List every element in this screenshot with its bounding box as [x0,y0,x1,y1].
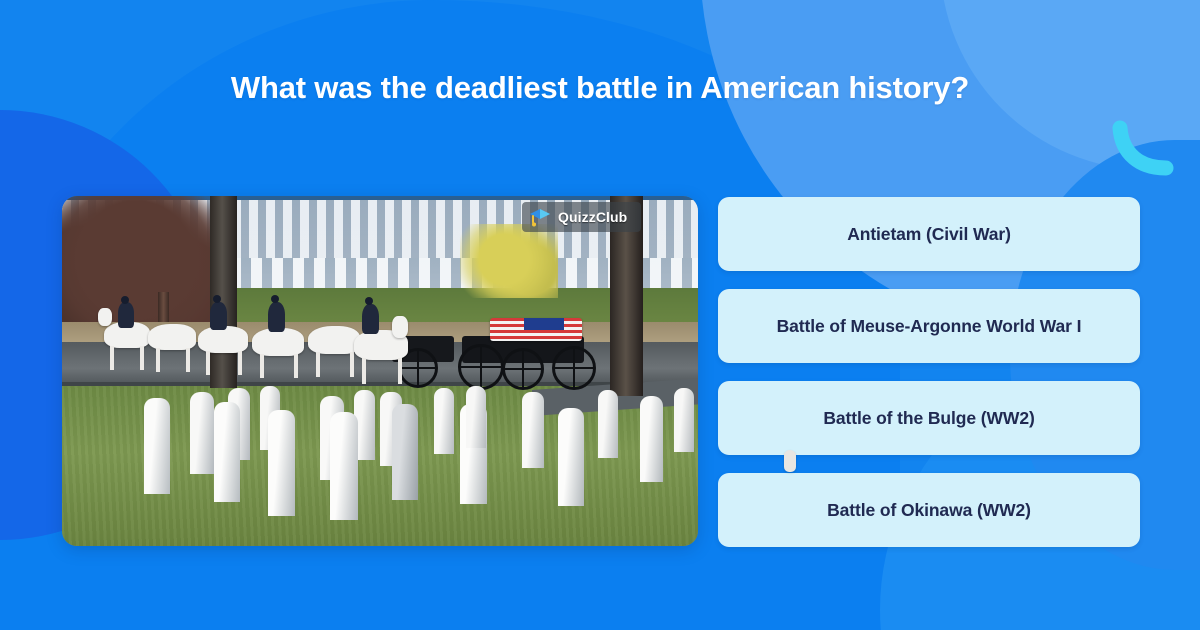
photo-caisson-wheel [458,344,504,390]
photo-caisson-wheel [502,348,544,390]
answer-option-4[interactable]: Battle of Okinawa (WW2) [718,473,1140,547]
photo-horse-leg [206,351,210,375]
quiz-card: What was the deadliest battle in America… [0,0,1200,630]
photo-horse-head [98,308,112,326]
photo-horse-head [392,316,408,338]
answer-option-2[interactable]: Battle of Meuse-Argonne World War I [718,289,1140,363]
graduation-cap-icon [529,207,551,227]
photo-rider-head [365,297,373,305]
answer-option-1[interactable]: Antietam (Civil War) [718,197,1140,271]
answer-option-3[interactable]: Battle of the Bulge (WW2) [718,381,1140,455]
photo-rider [210,302,227,330]
pointer-handle-artifact[interactable] [784,450,796,472]
photo-rider [118,302,134,328]
photo-rider-head [121,296,129,304]
photo-horse [252,328,304,356]
photo-horse-leg [350,352,354,377]
photo-horse [308,326,360,354]
question-image: QuizzClub [62,196,698,546]
photo-rider-head [213,295,221,303]
answer-options-list: Antietam (Civil War) Battle of Meuse-Arg… [718,197,1140,547]
photo-flag-draped-casket [490,318,582,341]
photo-horse-leg [140,346,144,370]
cyan-arc-accent-icon [1112,120,1174,176]
photo-tree-trunk-mid [210,196,237,388]
photo-rider [362,304,379,334]
photo-horse-leg [260,354,264,378]
photo-rider-head [271,295,279,303]
photo-horse-leg [362,358,366,384]
photo-horse [198,326,248,353]
photo-horse-leg [316,352,320,377]
quizzclub-watermark: QuizzClub [522,202,641,232]
photo-horse [148,324,196,350]
photo-flag-canton [524,318,564,330]
photo-horse-leg [110,346,114,370]
photo-horse-leg [186,348,190,372]
photo-horse-leg [398,358,402,384]
photo-rider [268,302,285,332]
quizzclub-watermark-label: QuizzClub [558,209,627,225]
photo-horse-leg [238,351,242,375]
photo-horse-leg [156,348,160,372]
photo-horse-leg [294,354,298,378]
photo-caisson-wheel [552,346,596,390]
photo-yellow-foliage [460,224,558,298]
page-title: What was the deadliest battle in America… [0,70,1200,106]
